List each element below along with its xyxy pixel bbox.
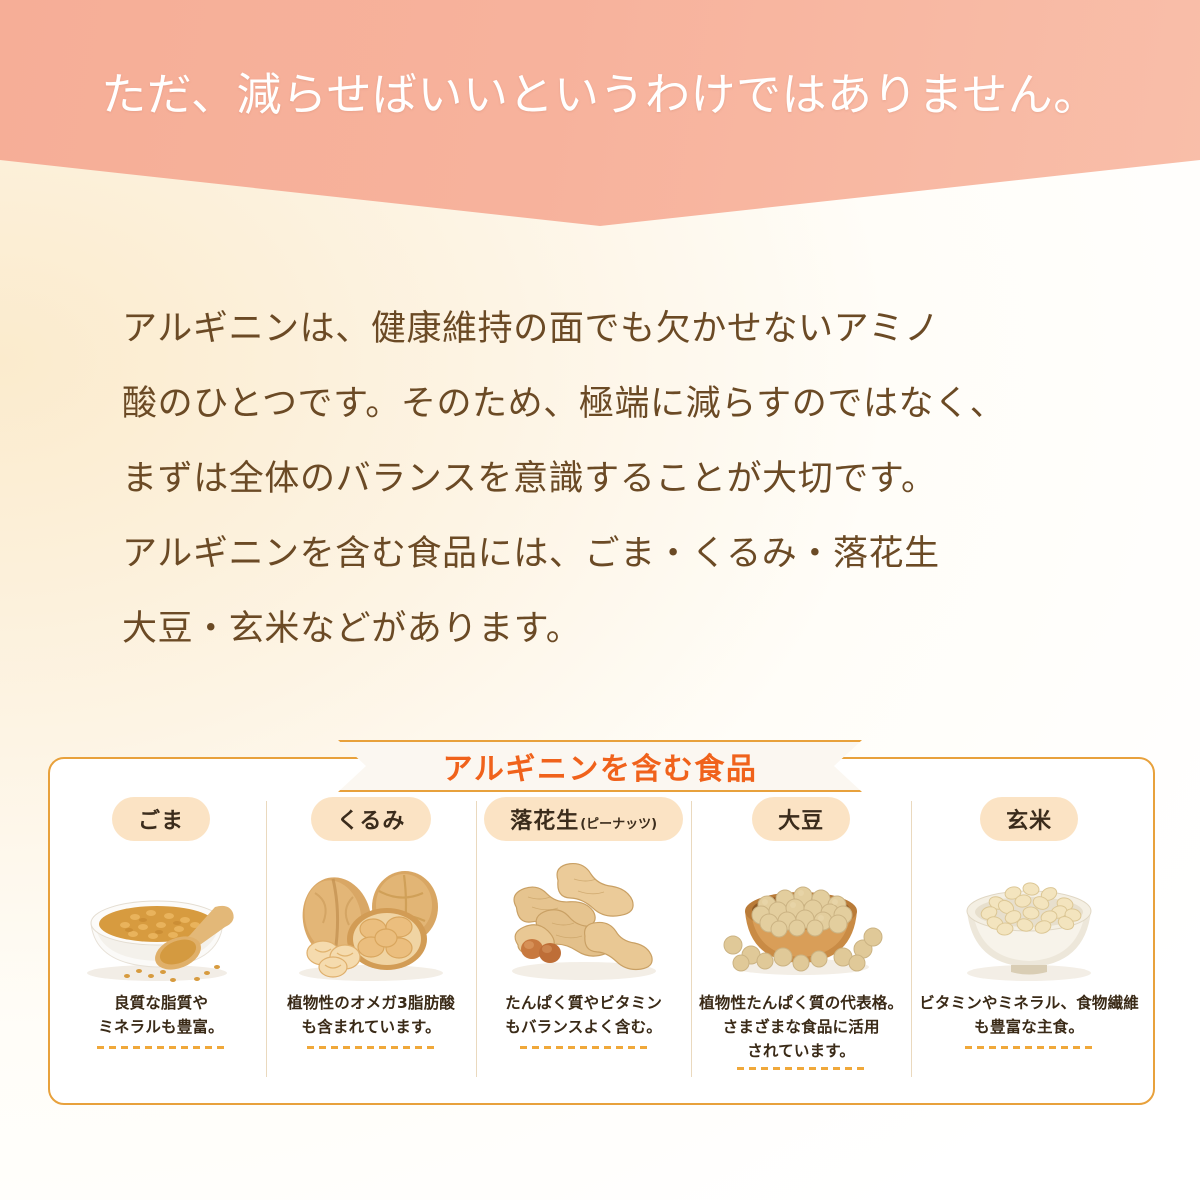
food-label-text: 落花生 <box>510 803 579 835</box>
caption-line: されています。 <box>699 1039 903 1063</box>
caption-line: も含まれています。 <box>287 1015 455 1039</box>
food-label-brown-rice: 玄米 <box>980 797 1078 841</box>
food-label-text: 玄米 <box>1006 803 1052 835</box>
arginine-foods-card: ごま <box>48 757 1155 1105</box>
intro-line-3: まずは全体のバランスを意識することが大切です。 <box>122 442 1082 517</box>
intro-line-2: 酸のひとつです。そのため、極端に減らすのではなく、 <box>122 367 1082 442</box>
food-item-sesame: ごま <box>56 797 266 1091</box>
food-item-brown-rice: 玄米 <box>911 797 1147 1091</box>
caption-line: もバランスよく含む。 <box>505 1015 662 1039</box>
brown-rice-bowl-image <box>933 849 1125 987</box>
caption-line: 良質な脂質や <box>98 991 224 1015</box>
intro-line-5: 大豆・玄米などがあります。 <box>122 592 1082 667</box>
food-label-text: 大豆 <box>778 803 824 835</box>
caption-line: たんぱく質やビタミン <box>505 991 662 1015</box>
food-label-subtext: (ピーナッツ) <box>580 813 657 832</box>
caption-line: ミネラルも豊富。 <box>98 1015 224 1039</box>
intro-paragraph: アルギニンは、健康維持の面でも欠かせないアミノ 酸のひとつです。そのため、極端に… <box>122 292 1082 667</box>
food-label-sesame: ごま <box>112 797 210 841</box>
caption-underline <box>965 1046 1093 1049</box>
caption-line: も豊富な主食。 <box>919 1015 1139 1039</box>
caption-line: 植物性たんぱく質の代表格。 <box>699 991 903 1015</box>
food-caption-walnut: 植物性のオメガ3脂肪酸 も含まれています。 <box>287 991 455 1039</box>
food-label-walnut: くるみ <box>311 797 432 841</box>
food-caption-soybean: 植物性たんぱく質の代表格。 さまざまな食品に活用 されています。 <box>699 991 903 1063</box>
soybean-bowl-image <box>705 849 897 987</box>
food-columns: ごま <box>50 759 1153 1103</box>
intro-line-4: アルギニンを含む食品には、ごま・くるみ・落花生 <box>122 517 1082 592</box>
page-title: ただ、減らせばいいというわけではありません。 <box>0 58 1200 123</box>
food-caption-peanut: たんぱく質やビタミン もバランスよく含む。 <box>505 991 662 1039</box>
food-item-walnut: くるみ <box>266 797 476 1091</box>
food-caption-brown-rice: ビタミンやミネラル、食物繊維 も豊富な主食。 <box>919 991 1139 1039</box>
section-ribbon: アルギニンを含む食品 <box>338 740 862 792</box>
food-label-peanut: 落花生 (ピーナッツ) <box>484 797 683 841</box>
caption-underline <box>97 1046 225 1049</box>
peanut-image <box>488 849 680 987</box>
caption-line: 植物性のオメガ3脂肪酸 <box>287 991 455 1015</box>
walnut-image <box>275 849 467 987</box>
food-label-text: ごま <box>138 803 184 835</box>
sesame-bowl-image <box>65 849 257 987</box>
ribbon-title: アルギニンを含む食品 <box>338 740 862 792</box>
food-label-text: くるみ <box>337 803 406 835</box>
intro-line-1: アルギニンは、健康維持の面でも欠かせないアミノ <box>122 292 1082 367</box>
food-item-peanut: 落花生 (ピーナッツ) <box>476 797 691 1091</box>
caption-underline <box>737 1067 865 1070</box>
caption-line: さまざまな食品に活用 <box>699 1015 903 1039</box>
food-item-soybean: 大豆 <box>691 797 911 1091</box>
caption-line: ビタミンやミネラル、食物繊維 <box>919 991 1139 1015</box>
food-caption-sesame: 良質な脂質や ミネラルも豊富。 <box>98 991 224 1039</box>
caption-underline <box>307 1046 435 1049</box>
food-label-soybean: 大豆 <box>752 797 850 841</box>
caption-underline <box>520 1046 648 1049</box>
